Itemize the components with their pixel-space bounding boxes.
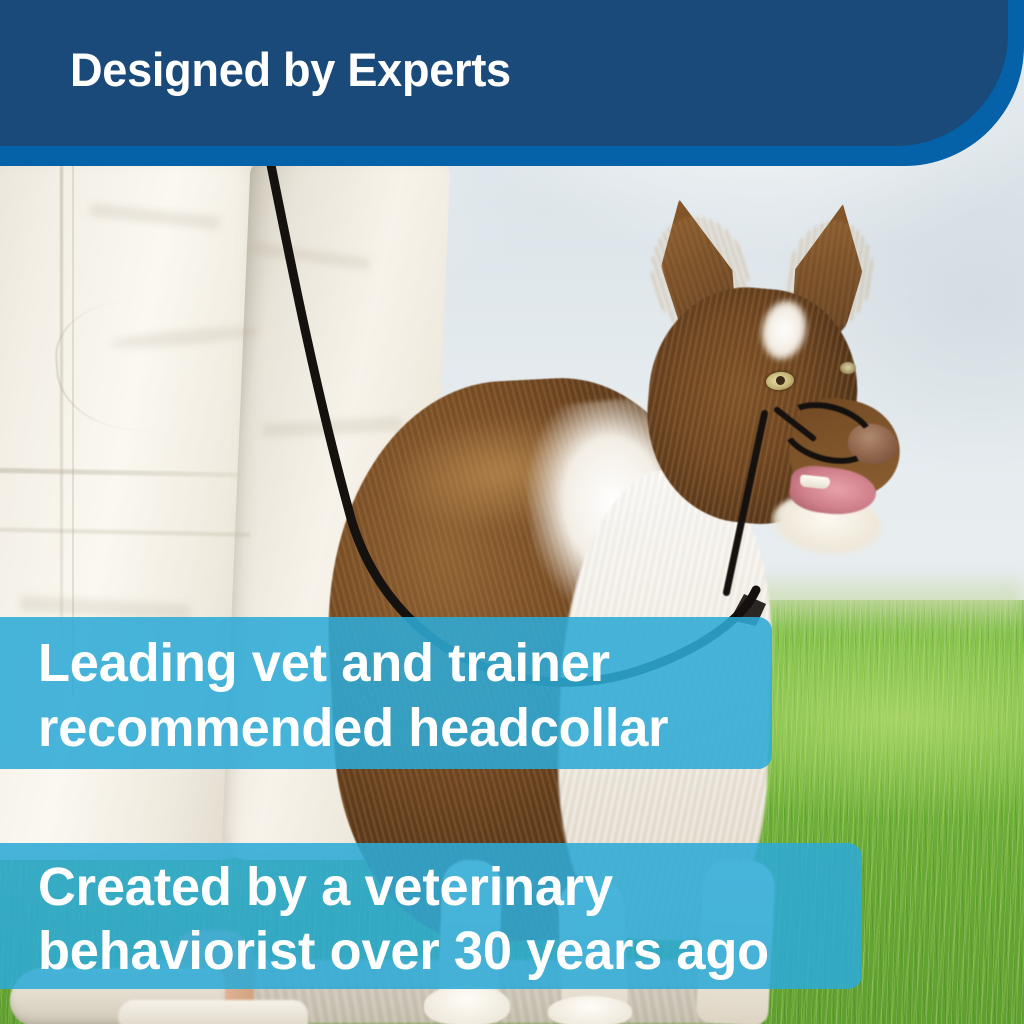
product-feature-image: Designed by Experts Leading vet and trai… [0,0,1024,1024]
feature-banner-1: Leading vet and trainer recommended head… [0,617,772,769]
person-sneaker-right [118,1000,308,1024]
banner-1-line-2: recommended headcollar [38,696,750,761]
dog-paw [548,996,632,1024]
feature-banner-2: Created by a veterinary behaviorist over… [0,843,862,989]
banner-1-line-1: Leading vet and trainer [38,631,750,696]
dog-eye-right [840,362,856,374]
banner-2-line-1: Created by a veterinary [38,855,837,919]
dog-paw [424,985,510,1024]
page-title: Designed by Experts [70,46,511,93]
banner-2-line-2: behaviorist over 30 years ago [38,919,837,983]
